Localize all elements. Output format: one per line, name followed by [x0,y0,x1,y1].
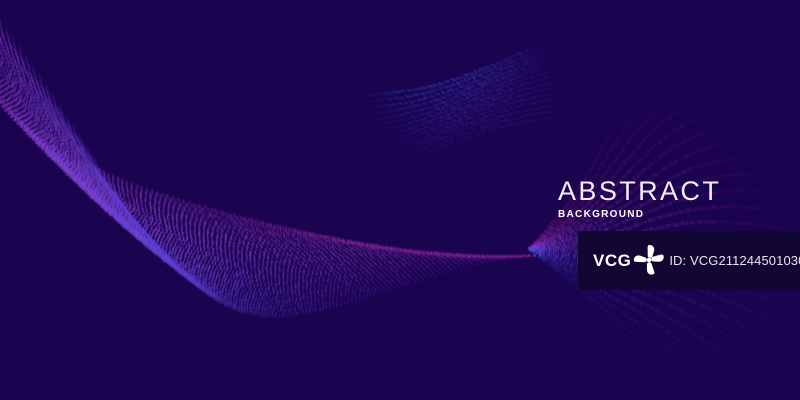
abstract-background-poster: ABSTRACT BACKGROUND VCG ID: VCG211244501… [0,0,800,400]
vcg-brand-label: VCG [593,252,631,269]
particle-wave-artwork [0,0,800,400]
vcg-watermark: VCG ID: VCG211244501030 [578,231,800,290]
vcg-petal-flower-icon [632,243,666,277]
image-id-label: ID: VCG211244501030 [669,253,800,268]
